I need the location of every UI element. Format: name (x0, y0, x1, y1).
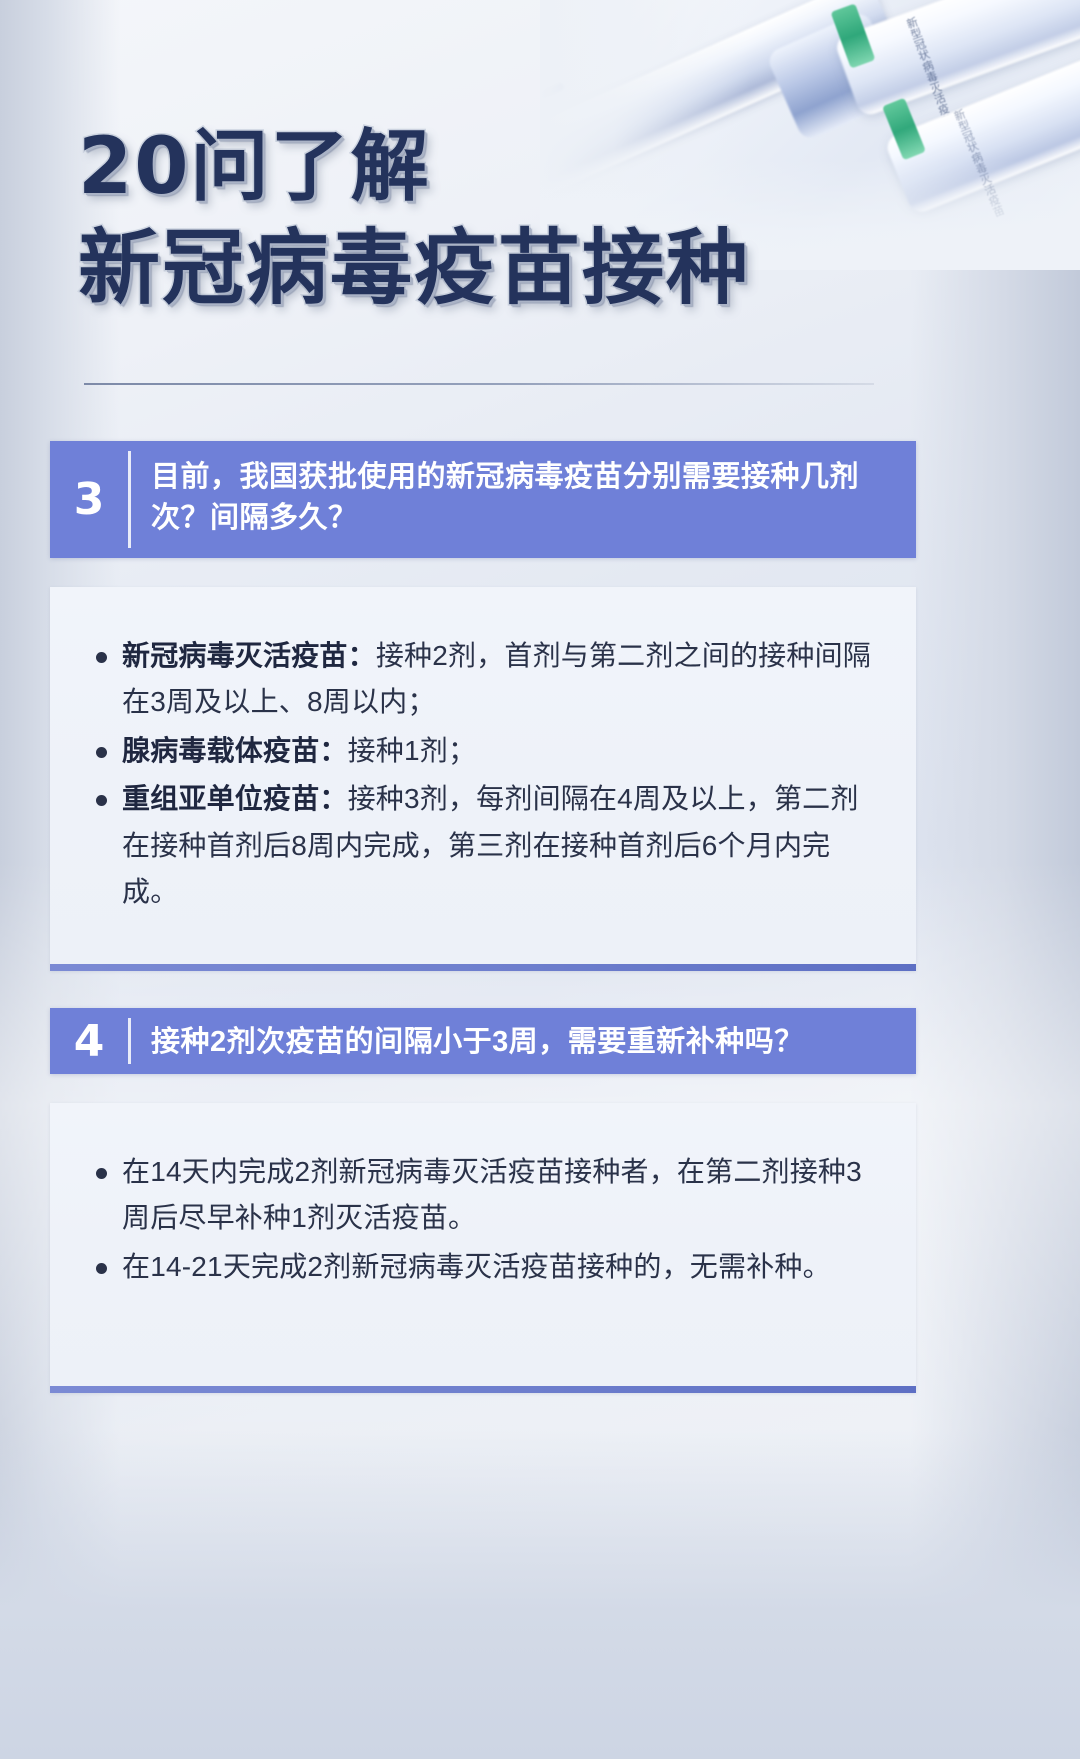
answer-body-3: 新冠病毒灭活疫苗：接种2剂，首剂与第二剂之间的接种间隔在3周及以上、8周以内； … (50, 587, 916, 971)
list-item: 新冠病毒灭活疫苗：接种2剂，首剂与第二剂之间的接种间隔在3周及以上、8周以内； (94, 633, 886, 726)
qa-block-4: 4 接种2剂次疫苗的间隔小于3周，需要重新补种吗？ 在14天内完成2剂新冠病毒灭… (50, 1008, 916, 1393)
answer-body-4: 在14天内完成2剂新冠病毒灭活疫苗接种者，在第二剂接种3周后尽早补种1剂灭活疫苗… (50, 1103, 916, 1393)
question-number-3: 3 (50, 441, 128, 558)
list-item: 重组亚单位疫苗：接种3剂，每剂间隔在4周及以上，第二剂在接种首剂后8周内完成，第… (94, 776, 886, 915)
page-title: 20问了解 新冠病毒疫苗接种 (78, 128, 750, 310)
bullet-label: 腺病毒载体疫苗： (122, 735, 348, 766)
background-bottom-gradient (0, 1429, 1080, 1759)
bullet-text: 在14天内完成2剂新冠病毒灭活疫苗接种者，在第二剂接种3周后尽早补种1剂灭活疫苗… (122, 1156, 862, 1233)
title-divider (84, 383, 874, 385)
bullet-label: 重组亚单位疫苗： (122, 783, 348, 814)
answer-bullet-list-3: 新冠病毒灭活疫苗：接种2剂，首剂与第二剂之间的接种间隔在3周及以上、8周以内； … (94, 633, 886, 916)
bullet-text: 接种1剂； (348, 735, 477, 766)
list-item: 在14-21天完成2剂新冠病毒灭活疫苗接种的，无需补种。 (94, 1244, 886, 1290)
question-header-4: 4 接种2剂次疫苗的间隔小于3周，需要重新补种吗？ (50, 1008, 916, 1074)
list-item: 腺病毒载体疫苗：接种1剂； (94, 728, 886, 774)
title-line-2: 新冠病毒疫苗接种 (78, 228, 750, 310)
bullet-text: 在14-21天完成2剂新冠病毒灭活疫苗接种的，无需补种。 (122, 1251, 831, 1282)
title-line-1: 20问了解 (78, 128, 750, 206)
question-number-4: 4 (50, 1008, 128, 1074)
list-item: 在14天内完成2剂新冠病毒灭活疫苗接种者，在第二剂接种3周后尽早补种1剂灭活疫苗… (94, 1149, 886, 1242)
qa-block-3: 3 目前，我国获批使用的新冠病毒疫苗分别需要接种几剂次？间隔多久？ 新冠病毒灭活… (50, 441, 916, 971)
answer-bullet-list-4: 在14天内完成2剂新冠病毒灭活疫苗接种者，在第二剂接种3周后尽早补种1剂灭活疫苗… (94, 1149, 886, 1290)
question-text-4: 接种2剂次疫苗的间隔小于3周，需要重新补种吗？ (131, 1008, 916, 1074)
question-header-3: 3 目前，我国获批使用的新冠病毒疫苗分别需要接种几剂次？间隔多久？ (50, 441, 916, 558)
question-text-3: 目前，我国获批使用的新冠病毒疫苗分别需要接种几剂次？间隔多久？ (131, 441, 916, 558)
bullet-label: 新冠病毒灭活疫苗： (122, 640, 376, 671)
